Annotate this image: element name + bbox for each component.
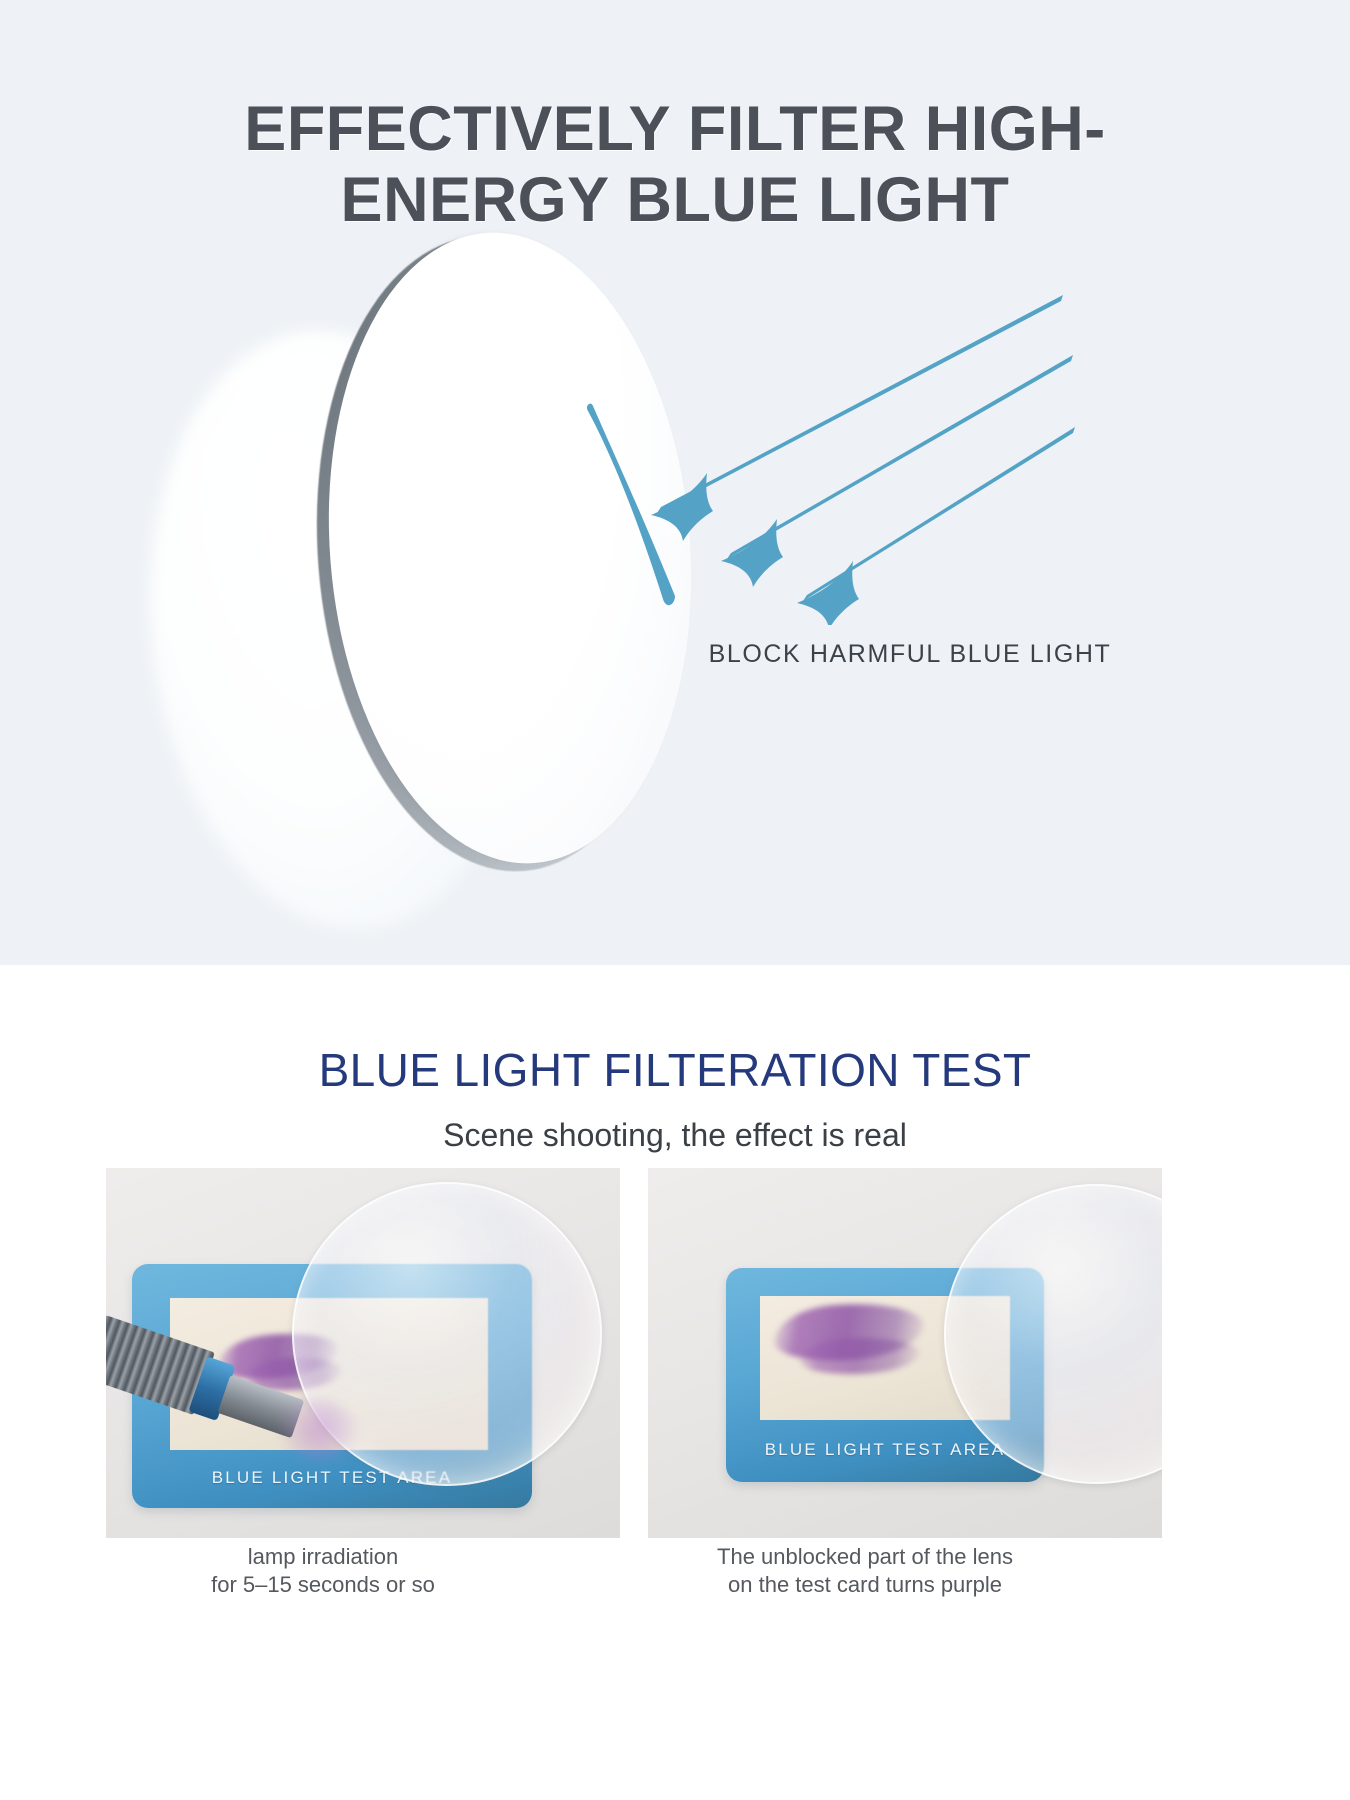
section-title: BLUE LIGHT FILTERATION TEST [0, 1043, 1350, 1097]
hero-caption: BLOCK HARMFUL BLUE LIGHT [600, 640, 1220, 669]
section-subtitle: Scene shooting, the effect is real [0, 1117, 1350, 1154]
curved-arc-icon [575, 400, 725, 610]
page-title: EFFECTIVELY FILTER HIGH- ENERGY BLUE LIG… [0, 94, 1350, 236]
hero-section: EFFECTIVELY FILTER HIGH- ENERGY BLUE LIG… [0, 0, 1350, 965]
arrow-left-icon [721, 355, 1073, 587]
test-photo-right: BLUE LIGHT TEST AREA [648, 1168, 1162, 1538]
arrow-left-icon [797, 427, 1075, 625]
photo-caption-left: lamp irradiation for 5–15 seconds or so [66, 1543, 580, 1599]
photo-caption-right: The unblocked part of the lens on the te… [608, 1543, 1122, 1599]
filtration-test-section: BLUE LIGHT FILTERATION TEST Scene shooti… [0, 965, 1350, 1800]
test-photo-left: BLUE LIGHT TEST AREA [106, 1168, 620, 1538]
